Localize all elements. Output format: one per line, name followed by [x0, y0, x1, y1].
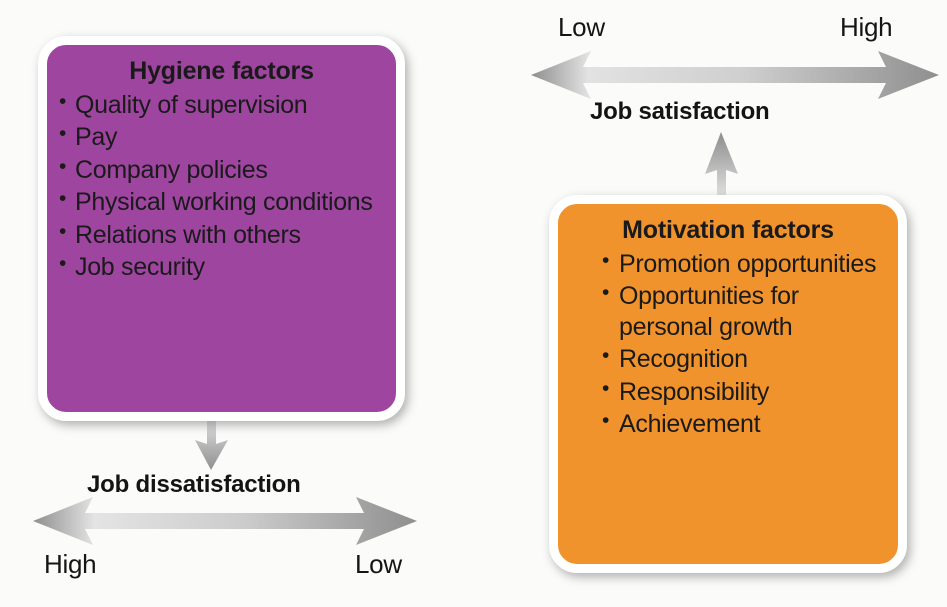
- motivation-factors-heading: Motivation factors: [570, 216, 886, 246]
- list-item: Pay: [59, 122, 384, 153]
- list-item: Promotion opportunities: [602, 249, 886, 280]
- diagram-canvas: Hygiene factors Quality of supervision P…: [0, 0, 947, 607]
- hygiene-to-dissatisfaction-arrow: [195, 418, 228, 470]
- job-satisfaction-low-label: Low: [558, 12, 605, 43]
- job-satisfaction-title: Job satisfaction: [590, 98, 770, 126]
- motivation-factors-list: Promotion opportunities Opportunities fo…: [570, 249, 886, 440]
- list-item: Job security: [59, 252, 384, 283]
- hygiene-factors-heading: Hygiene factors: [59, 57, 384, 87]
- list-item: Responsibility: [602, 377, 886, 408]
- list-item: Physical working conditions: [59, 187, 384, 218]
- list-item: Achievement: [602, 409, 886, 440]
- job-dissatisfaction-arrow: [33, 497, 417, 545]
- job-dissatisfaction-high-label: High: [44, 549, 96, 580]
- motivation-factors-box: Motivation factors Promotion opportuniti…: [549, 195, 907, 573]
- list-item: Quality of supervision: [59, 90, 384, 121]
- list-item: Relations with others: [59, 220, 384, 251]
- hygiene-factors-box: Hygiene factors Quality of supervision P…: [38, 36, 405, 421]
- motivation-to-satisfaction-arrow: [705, 132, 738, 196]
- list-item: Opportunities for personal growth: [602, 281, 886, 342]
- job-dissatisfaction-low-label: Low: [355, 549, 402, 580]
- hygiene-factors-list: Quality of supervision Pay Company polic…: [59, 90, 384, 283]
- job-dissatisfaction-title: Job dissatisfaction: [87, 471, 301, 499]
- job-satisfaction-arrow: [531, 51, 939, 99]
- job-satisfaction-high-label: High: [840, 12, 892, 43]
- list-item: Recognition: [602, 344, 886, 375]
- list-item: Company policies: [59, 155, 384, 186]
